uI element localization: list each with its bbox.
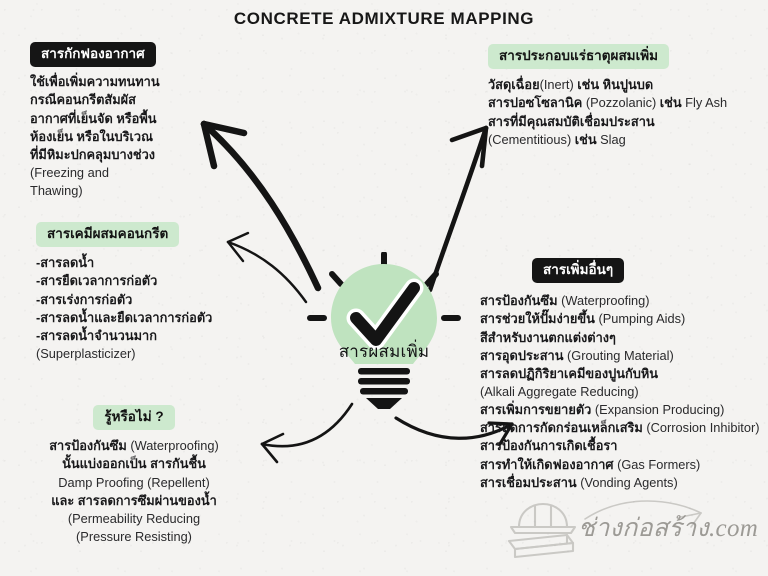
text-line: สารช่วยให้ปั๊มง่ายขึ้น (Pumping Aids) <box>480 310 768 328</box>
text-line: ห้องเย็น หรือในบริเวณ <box>30 128 220 146</box>
text-line: -สารยืดเวลาการก่อตัว <box>36 272 241 290</box>
block-chemical: สารเคมีผสมคอนกรีต -สารลดน้ำ-สารยืดเวลากา… <box>36 222 241 363</box>
text-others: สารป้องกันซึม (Waterproofing)สารช่วยให้ป… <box>480 292 768 492</box>
badge-others: สารเพิ่มอื่นๆ <box>532 258 624 283</box>
badge-mineral: สารประกอบแร่ธาตุผสมเพิ่ม <box>488 44 669 69</box>
text-line: นั้นแบ่งออกเป็น สารกันชื้น <box>14 455 254 473</box>
text-air-entraining: ใช้เพื่อเพิ่มความทนทานกรณีคอนกรีตสัมผัสอ… <box>30 73 220 200</box>
text-line: -สารลดน้ำ <box>36 254 241 272</box>
text-line: สารเชื่อมประสาน (Vonding Agents) <box>480 474 768 492</box>
badge-air-entraining: สารกักฟองอากาศ <box>30 42 156 67</box>
block-air-entraining: สารกักฟองอากาศ ใช้เพื่อเพิ่มความทนทานกรณ… <box>30 42 220 200</box>
text-line: -สารลดน้ำและยืดเวลาการก่อตัว <box>36 309 241 327</box>
text-line: วัสดุเฉื่อย(Inert) เช่น หินปูนบด <box>488 76 760 94</box>
text-line: สารป้องกันการเกิดเชื้อรา <box>480 437 768 455</box>
text-chemical: -สารลดน้ำ-สารยืดเวลาการก่อตัว-สารเร่งการ… <box>36 254 241 363</box>
text-line: (Permeability Reducing <box>14 510 254 528</box>
text-line: สารทำให้เกิดฟองอากาศ (Gas Formers) <box>480 456 768 474</box>
text-line: -สารลดน้ำจำนวนมาก <box>36 327 241 345</box>
text-line: (Cementitious) เช่น Slag <box>488 131 760 149</box>
text-line: สารปอซโซลานิค (Pozzolanic) เช่น Fly Ash <box>488 94 760 112</box>
text-line: (Superplasticizer) <box>36 345 241 363</box>
text-line: สารเพิ่มการขยายตัว (Expansion Producing) <box>480 401 768 419</box>
text-line: (Freezing and <box>30 164 220 182</box>
bulb-base <box>358 368 410 409</box>
center-label: สารผสมเพิ่ม <box>276 338 492 365</box>
block-did-you-know: รู้หรือไม่ ? สารป้องกันซึม (Waterproofin… <box>14 405 254 546</box>
watermark-text: ช่างก่อสร้าง.com <box>578 508 758 548</box>
badge-chemical: สารเคมีผสมคอนกรีต <box>36 222 179 247</box>
center-lightbulb <box>296 252 472 412</box>
text-line: (Pressure Resisting) <box>14 528 254 546</box>
text-line: กรณีคอนกรีตสัมผัส <box>30 91 220 109</box>
text-line: ที่มีหิมะปกคลุมบางช่วง <box>30 146 220 164</box>
text-line: สีสำหรับงานตกแต่งต่างๆ <box>480 329 768 347</box>
text-line: Damp Proofing (Repellent) <box>14 474 254 492</box>
text-line: สารลดปฏิกิริยาเคมีของปูนกับหิน <box>480 365 768 383</box>
text-line: สารป้องกันซึม (Waterproofing) <box>480 292 768 310</box>
text-line: -สารเร่งการก่อตัว <box>36 291 241 309</box>
text-line: อากาศที่เย็นจัด หรือพื้น <box>30 110 220 128</box>
text-line: ใช้เพื่อเพิ่มความทนทาน <box>30 73 220 91</box>
block-mineral: สารประกอบแร่ธาตุผสมเพิ่ม วัสดุเฉื่อย(Ine… <box>488 44 760 149</box>
text-mineral: วัสดุเฉื่อย(Inert) เช่น หินปูนบดสารปอซโซ… <box>488 76 760 149</box>
text-line: Thawing) <box>30 182 220 200</box>
badge-did-you-know: รู้หรือไม่ ? <box>93 405 174 430</box>
block-others: สารเพิ่มอื่นๆ สารป้องกันซึม (Waterproofi… <box>532 258 768 492</box>
text-line: สารที่มีคุณสมบัติเชื่อมประสาน <box>488 113 760 131</box>
text-did-you-know: สารป้องกันซึม (Waterproofing)นั้นแบ่งออก… <box>14 437 254 546</box>
text-line: สารลดการกัดกร่อนเหล็กเสริม (Corrosion In… <box>480 419 768 437</box>
page-title: CONCRETE ADMIXTURE MAPPING <box>0 8 768 30</box>
text-line: และ สารลดการซึมผ่านของน้ำ <box>14 492 254 510</box>
text-line: (Alkali Aggregate Reducing) <box>480 383 768 401</box>
text-line: สารอุดประสาน (Grouting Material) <box>480 347 768 365</box>
text-line: สารป้องกันซึม (Waterproofing) <box>14 437 254 455</box>
